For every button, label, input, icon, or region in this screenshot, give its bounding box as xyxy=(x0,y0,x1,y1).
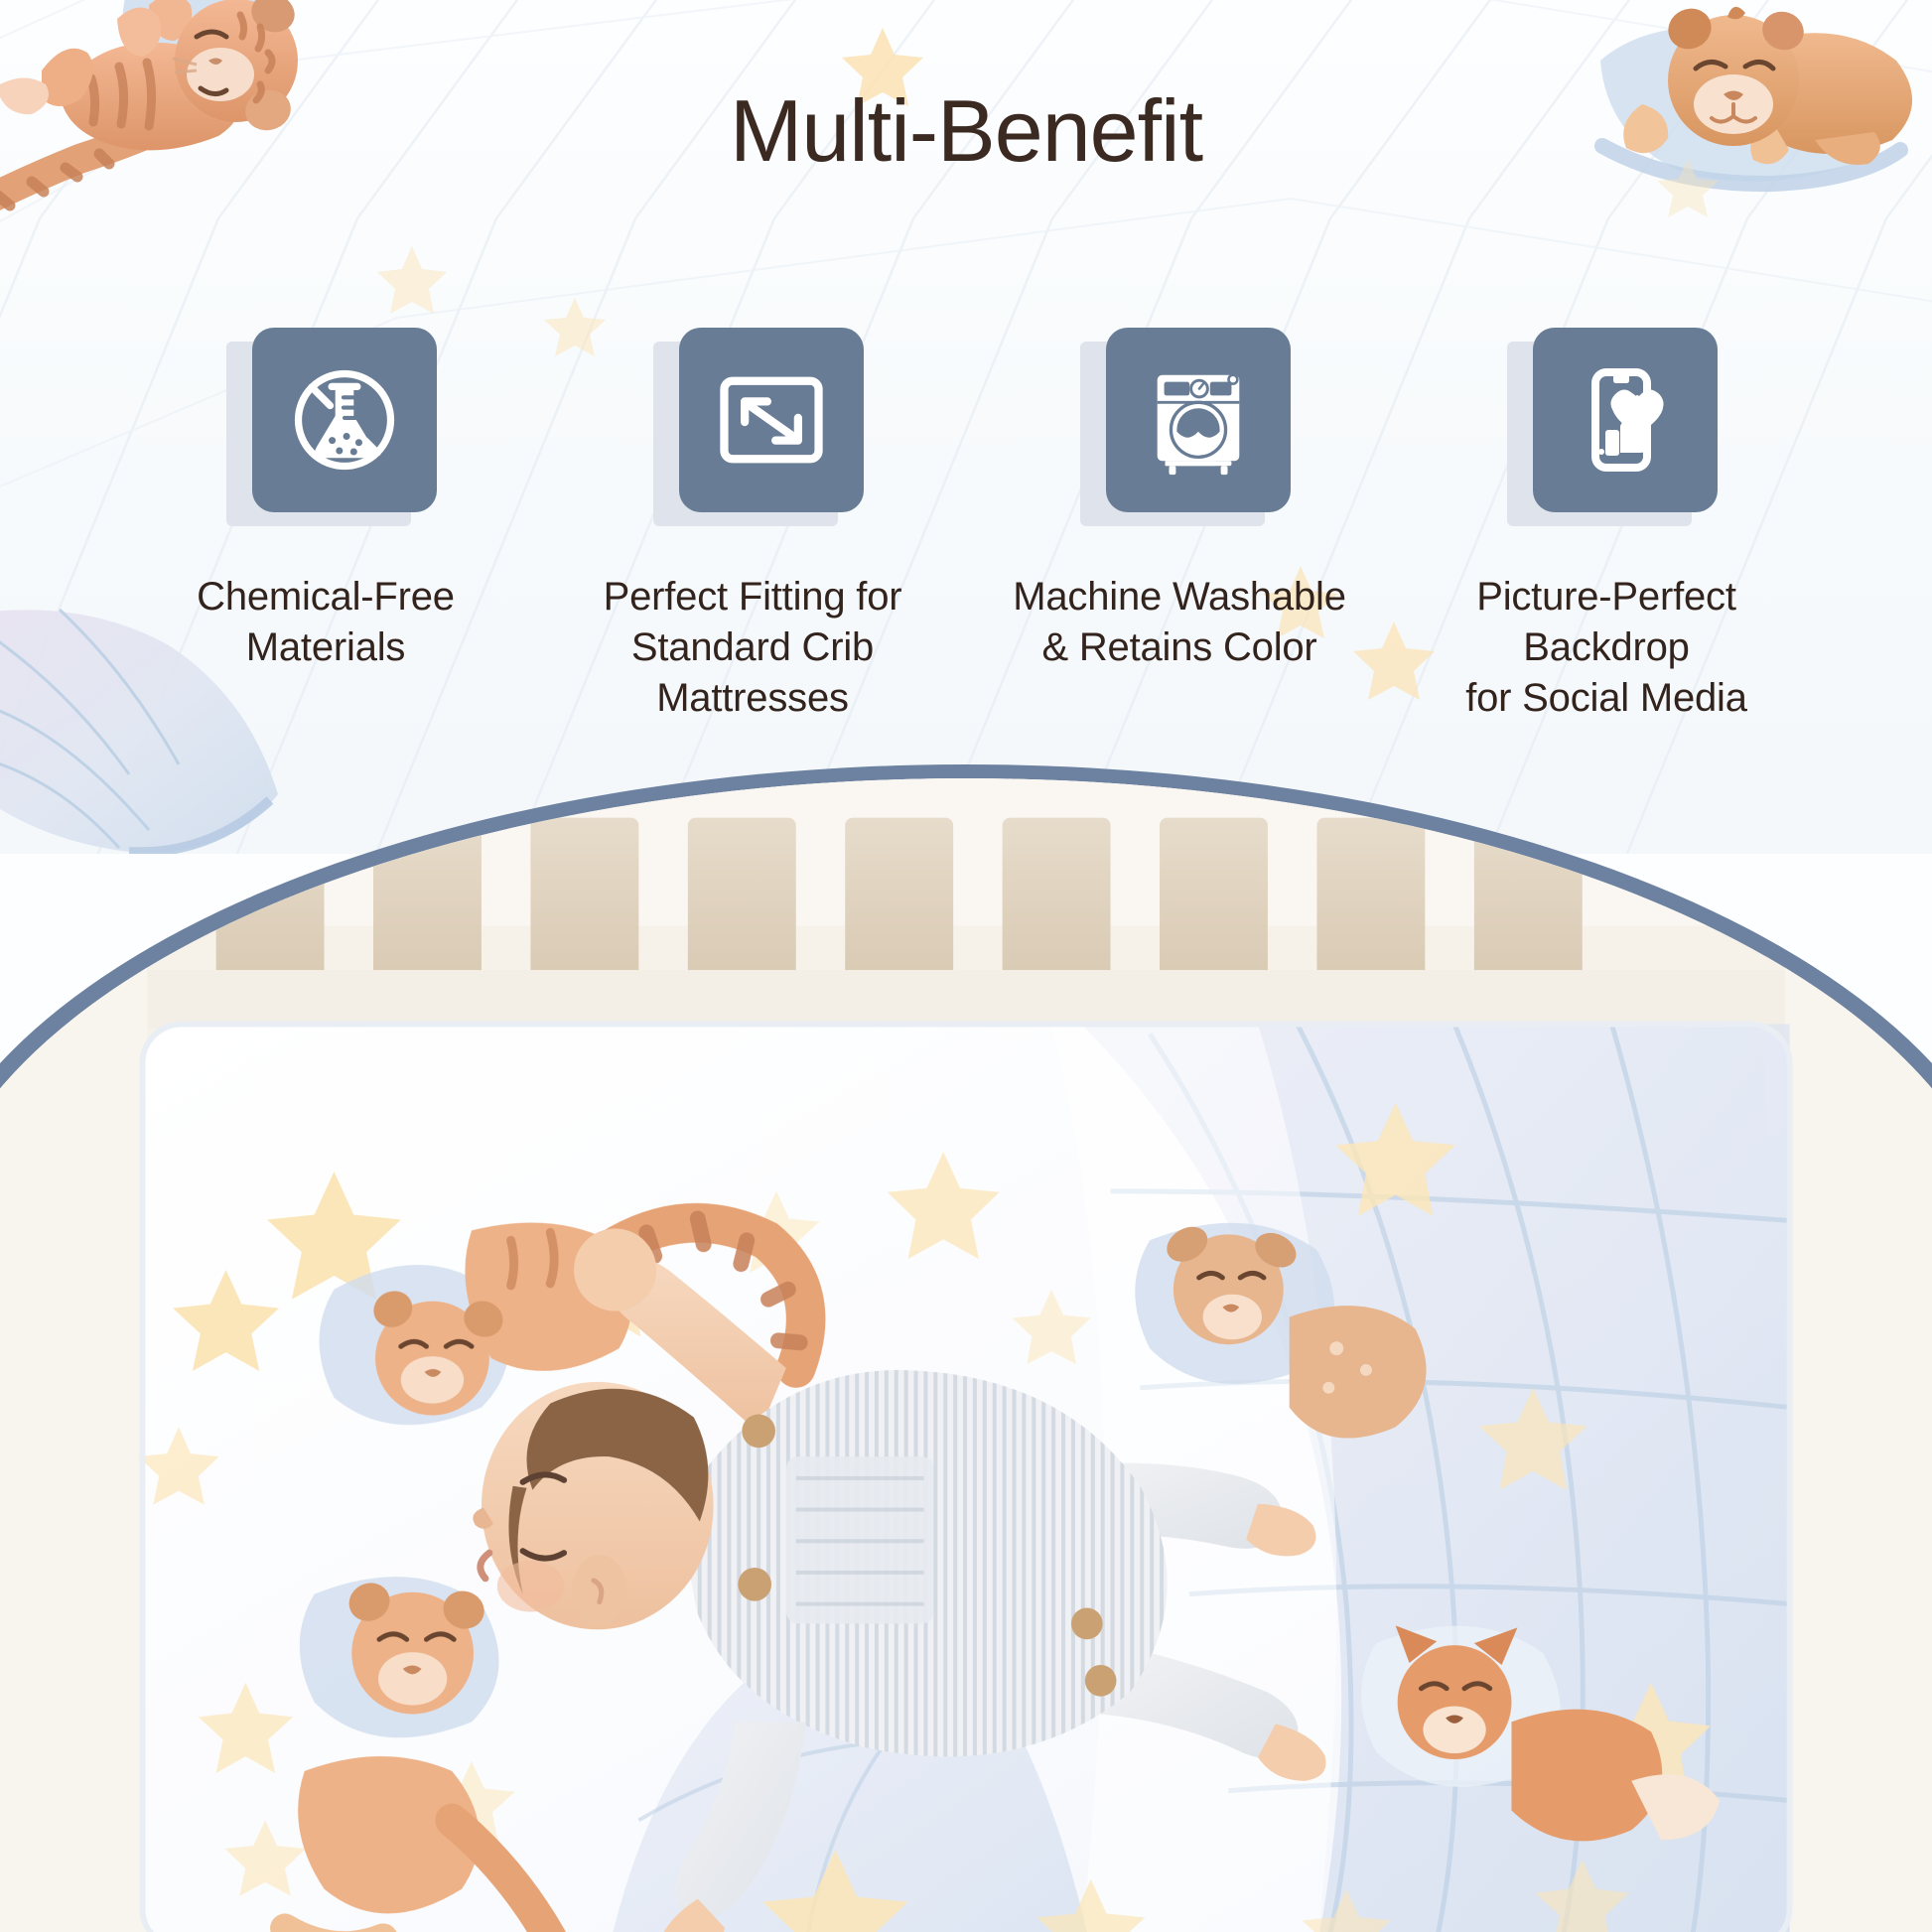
arch-divider-border xyxy=(0,764,1932,1932)
benefits-panel: Multi-Benefit xyxy=(0,0,1932,854)
icon-stack xyxy=(1080,328,1279,526)
benefit-label: Perfect Fitting for Standard Crib Mattre… xyxy=(539,572,966,725)
benefits-row: Chemical-Free Materials xyxy=(0,328,1932,725)
benefit-label: Picture-Perfect Backdrop for Social Medi… xyxy=(1393,572,1820,725)
phone-heart-like-icon xyxy=(1566,360,1685,480)
icon-stack xyxy=(1507,328,1706,526)
resize-fit-arrow-icon xyxy=(710,358,833,482)
benefit-label: Chemical-Free Materials xyxy=(197,572,455,673)
benefit-item-chemical-free: Chemical-Free Materials xyxy=(112,328,539,673)
page-title: Multi-Benefit xyxy=(0,87,1932,175)
washing-machine-icon xyxy=(1140,361,1257,479)
icon-stack xyxy=(226,328,425,526)
benefit-label: Machine Washable & Retains Color xyxy=(1013,572,1346,673)
icon-tile xyxy=(679,328,864,512)
icon-tile xyxy=(1106,328,1291,512)
benefit-item-perfect-fitting: Perfect Fitting for Standard Crib Mattre… xyxy=(539,328,966,725)
icon-tile xyxy=(1533,328,1718,512)
icon-tile xyxy=(252,328,437,512)
benefit-item-picture-perfect: Picture-Perfect Backdrop for Social Medi… xyxy=(1393,328,1820,725)
no-chemicals-flask-icon xyxy=(283,358,406,482)
crib-photo xyxy=(0,778,1932,1932)
product-infographic: Multi-Benefit xyxy=(0,0,1932,1932)
icon-stack xyxy=(653,328,852,526)
benefit-item-machine-washable: Machine Washable & Retains Color xyxy=(966,328,1393,673)
arch-photo-mask xyxy=(0,778,1932,1932)
product-photo-section xyxy=(0,764,1932,1932)
